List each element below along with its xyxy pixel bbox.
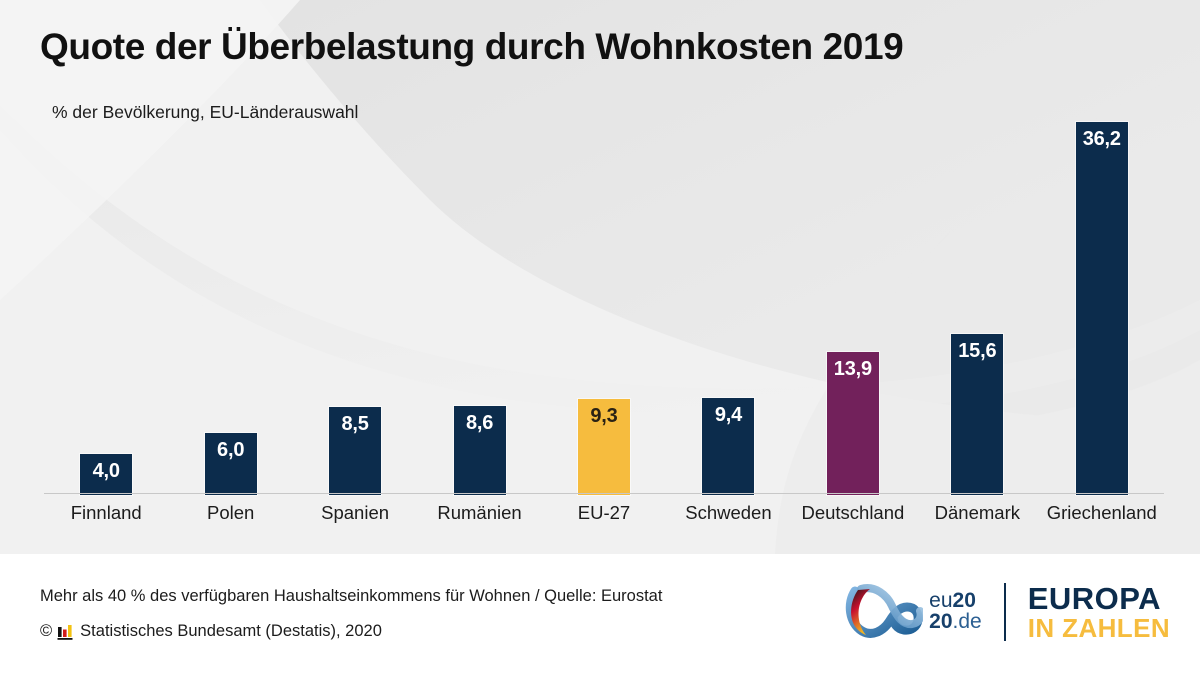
x-axis-category-labels: FinnlandPolenSpanienRumänienEU-27Schwede… [44, 502, 1164, 532]
eu2020-logo: eu20 20.de [845, 581, 982, 644]
bar-value-label: 6,0 [205, 440, 257, 460]
bar-group: 15,6 [915, 120, 1039, 495]
destatis-logo-icon [57, 624, 75, 641]
bar-group: 13,9 [791, 120, 915, 495]
logo-divider [1004, 583, 1006, 641]
chart-panel: Quote der Überbelastung durch Wohnkosten… [0, 0, 1200, 554]
eu2020-wordmark: eu20 20.de [929, 591, 982, 632]
bar-value-label: 9,3 [578, 406, 630, 426]
bar-group: 9,4 [666, 120, 790, 495]
x-tick-label: Polen [168, 502, 292, 524]
x-tick-label: Dänemark [915, 502, 1039, 524]
page-title: Quote der Überbelastung durch Wohnkosten… [40, 26, 903, 68]
bar-group: 8,6 [417, 120, 541, 495]
x-axis-line [44, 493, 1164, 494]
x-tick-label: Griechenland [1040, 502, 1164, 524]
bar-d-nemark[interactable]: 15,6 [951, 334, 1003, 495]
bar-value-label: 13,9 [827, 359, 879, 379]
x-tick-label: EU-27 [542, 502, 666, 524]
bar-griechenland[interactable]: 36,2 [1076, 122, 1128, 495]
bar-finnland[interactable]: 4,0 [80, 454, 132, 495]
europa-in-zahlen-logo: EUROPA IN ZAHLEN [1028, 583, 1170, 641]
eu-wordmark-line2a: 20 [929, 610, 952, 633]
europa-subtitle: IN ZAHLEN [1028, 615, 1170, 642]
copyright-text: Statistisches Bundesamt (Destatis), 2020 [80, 622, 382, 641]
bar-eu-27[interactable]: 9,3 [578, 399, 630, 495]
footer: Mehr als 40 % des verfügbaren Haushaltse… [0, 554, 1200, 676]
bar-group: 8,5 [293, 120, 417, 495]
x-tick-label: Rumänien [417, 502, 541, 524]
x-tick-label: Spanien [293, 502, 417, 524]
bar-value-label: 4,0 [80, 461, 132, 481]
footnote-source: Mehr als 40 % des verfügbaren Haushaltse… [40, 587, 662, 606]
eu-ribbon-icon [845, 581, 923, 644]
bar-plot-area: 4,06,08,58,69,39,413,915,636,2 [44, 120, 1164, 495]
eu-wordmark-line2b: .de [953, 610, 982, 633]
bar-value-label: 36,2 [1076, 129, 1128, 149]
bar-polen[interactable]: 6,0 [205, 433, 257, 495]
x-tick-label: Finnland [44, 502, 168, 524]
bar-group: 9,3 [542, 120, 666, 495]
infographic-page: Quote der Überbelastung durch Wohnkosten… [0, 0, 1200, 676]
bar-group: 6,0 [168, 120, 292, 495]
bar-rum-nien[interactable]: 8,6 [454, 406, 506, 495]
europa-title: EUROPA [1028, 583, 1170, 615]
eu-wordmark-line1b: 20 [953, 589, 976, 612]
bar-spanien[interactable]: 8,5 [329, 407, 381, 495]
bar-value-label: 15,6 [951, 341, 1003, 361]
bar-value-label: 9,4 [702, 405, 754, 425]
bar-deutschland[interactable]: 13,9 [827, 352, 879, 495]
bar-schweden[interactable]: 9,4 [702, 398, 754, 495]
bar-group: 36,2 [1040, 120, 1164, 495]
eu-wordmark-line1a: eu [929, 589, 952, 612]
copyright-line: © Statistisches Bundesamt (Destatis), 20… [40, 622, 382, 641]
bar-value-label: 8,6 [454, 413, 506, 433]
x-tick-label: Deutschland [791, 502, 915, 524]
bar-group: 4,0 [44, 120, 168, 495]
x-tick-label: Schweden [666, 502, 790, 524]
bar-value-label: 8,5 [329, 414, 381, 434]
logo-block: eu20 20.de EUROPA IN ZAHLEN [845, 574, 1170, 650]
copyright-symbol: © [40, 622, 52, 641]
